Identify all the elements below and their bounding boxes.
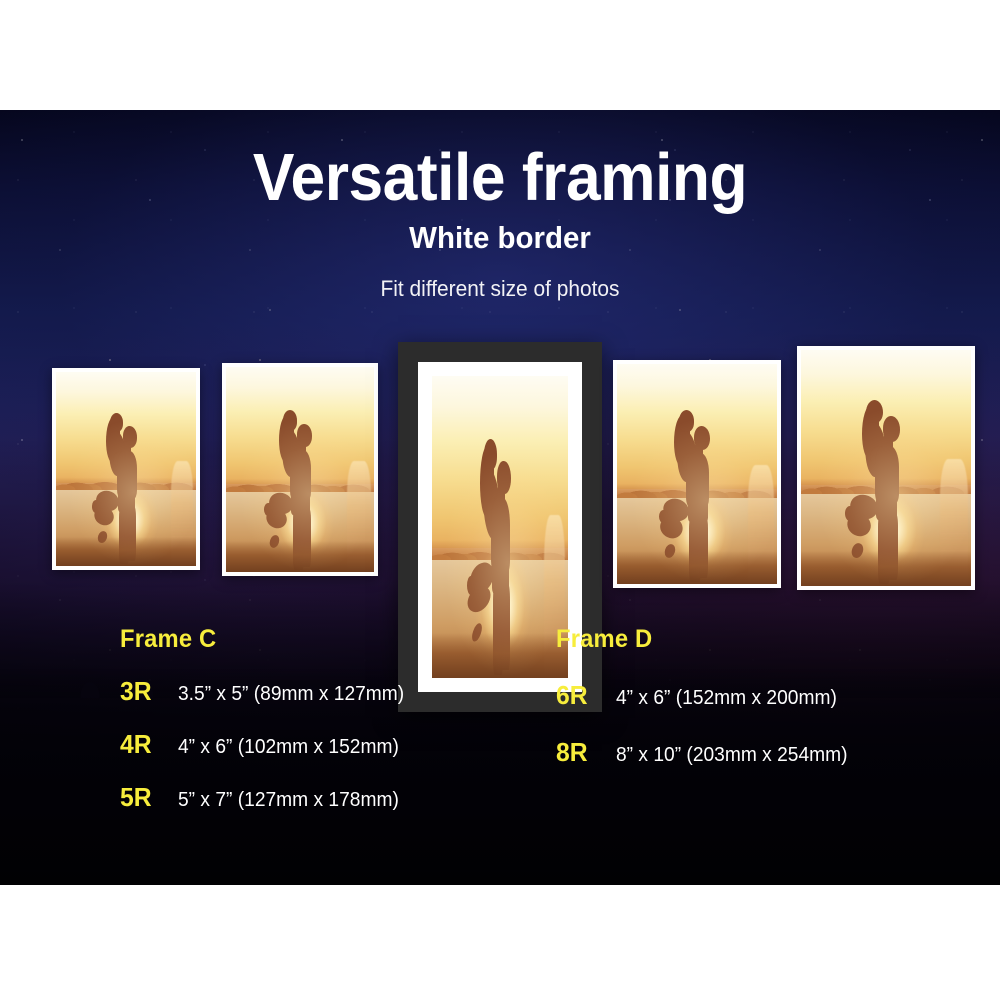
column-title-frame-d: Frame D [556, 625, 842, 654]
size-value: 5” x 7” (127mm x 178mm) [178, 789, 399, 812]
size-value: 4” x 6” (152mm x 200mm) [616, 687, 837, 710]
top-white-band [0, 0, 1000, 110]
size-code: 4R [120, 729, 175, 760]
size-row: 8R 8” x 10” (203mm x 254mm) [556, 737, 857, 768]
size-value: 8” x 10” (203mm x 254mm) [616, 744, 848, 767]
size-row: 6R 4” x 6” (152mm x 200mm) [556, 680, 857, 711]
size-row: 3R 3.5” x 5” (89mm x 127mm) [120, 676, 414, 707]
size-value: 3.5” x 5” (89mm x 127mm) [178, 683, 404, 706]
size-row: 5R 5” x 7” (127mm x 178mm) [120, 782, 414, 813]
bottom-white-band [0, 885, 1000, 1000]
size-code: 3R [120, 676, 175, 707]
size-specification-table: Frame C 3R 3.5” x 5” (89mm x 127mm) 4R 4… [0, 110, 1000, 885]
size-code: 6R [556, 680, 613, 711]
size-code: 8R [556, 737, 613, 768]
size-row: 4R 4” x 6” (102mm x 152mm) [120, 729, 414, 760]
size-value: 4” x 6” (102mm x 152mm) [178, 736, 399, 759]
size-column-frame-d: Frame D 6R 4” x 6” (152mm x 200mm) 8R 8”… [556, 625, 857, 768]
size-column-frame-c: Frame C 3R 3.5” x 5” (89mm x 127mm) 4R 4… [120, 625, 414, 813]
product-feature-banner: Versatile framing White border Fit diffe… [0, 0, 1000, 1000]
column-title-frame-c: Frame C [120, 625, 399, 654]
night-sky-hero-panel: Versatile framing White border Fit diffe… [0, 110, 1000, 885]
size-code: 5R [120, 782, 175, 813]
